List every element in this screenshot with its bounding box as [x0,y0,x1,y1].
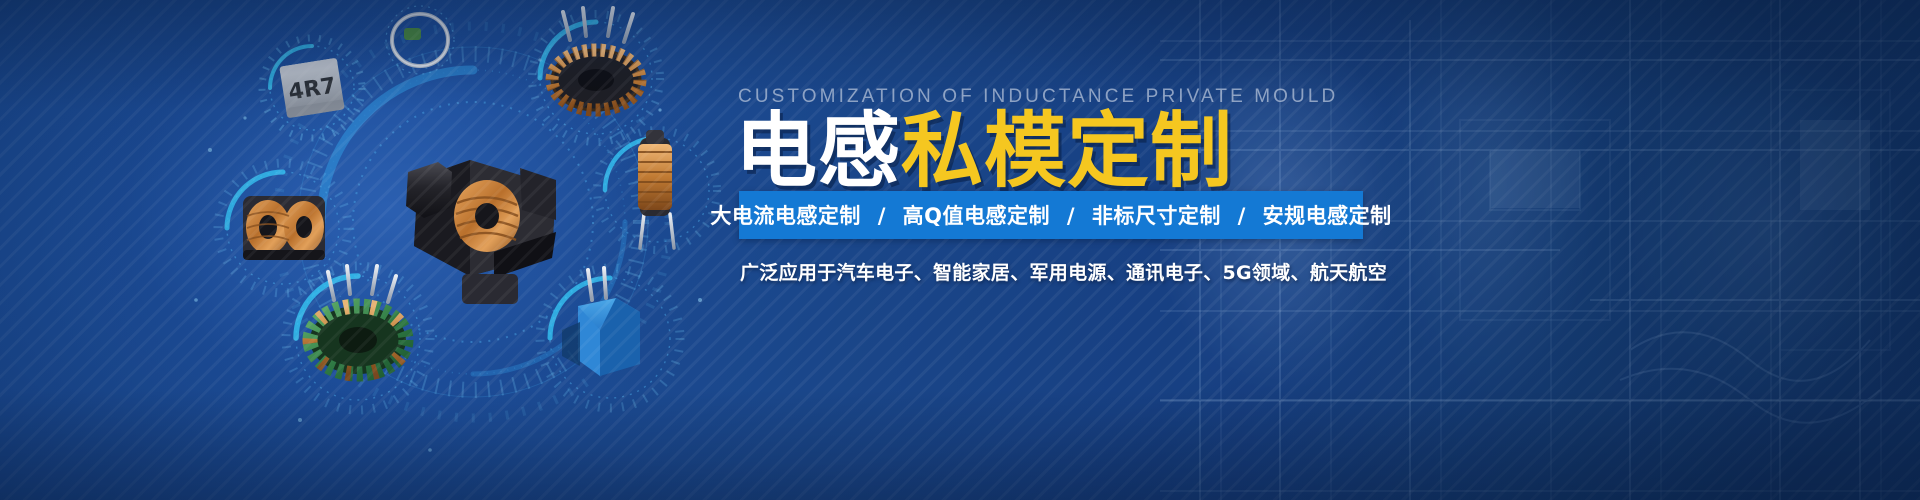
banner-text-block: CUSTOMIZATION OF INDUCTANCE PRIVATE MOUL… [735,0,1835,500]
feature-item-4: 安规电感定制 [1263,204,1392,228]
application-description: 广泛应用于汽车电子、智能家居、军用电源、通讯电子、5G领域、航天航空 [740,258,1387,285]
headline-white-part: 电感 [735,104,901,199]
feature-item-1: 大电流电感定制 [710,204,861,228]
feature-item-3: 非标尺寸定制 [1092,204,1221,228]
feature-separator-2: / [1058,204,1084,228]
feature-item-2: 高Q值电感定制 [903,204,1050,228]
feature-list: 大电流电感定制 / 高Q值电感定制 / 非标尺寸定制 / 安规电感定制 [710,200,1391,230]
feature-separator-1: / [869,204,895,228]
page-title: 电感私模定制 [735,110,1233,194]
feature-separator-3: / [1229,204,1255,228]
promo-banner: 4R7 [0,0,1920,500]
feature-list-bar: 大电流电感定制 / 高Q值电感定制 / 非标尺寸定制 / 安规电感定制 [739,191,1363,239]
headline-yellow-part: 私模定制 [901,104,1233,199]
